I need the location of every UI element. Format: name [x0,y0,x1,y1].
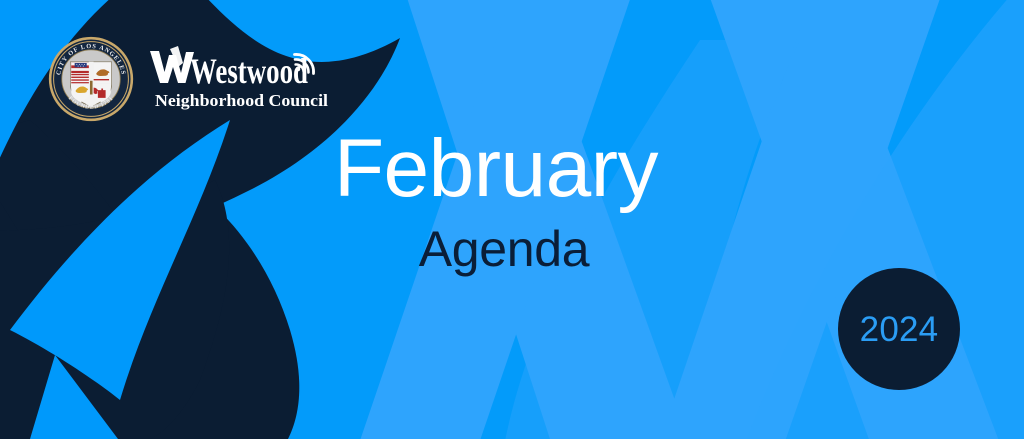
year-badge-label: 2024 [860,312,939,347]
agenda-banner: CITY OF LOS ANGELES FOUNDED 1781 Westwoo… [0,0,1024,439]
year-badge: 2024 [838,268,960,390]
westwood-wordmark-svg: Westwood Neighborhood Council [148,43,338,115]
westwood-wordmark: Westwood Neighborhood Council [148,43,338,115]
brand-logo-lockup: CITY OF LOS ANGELES FOUNDED 1781 Westwoo… [48,36,338,122]
wordmark-primary-text: Westwood [190,51,308,91]
wordmark-secondary-text: Neighborhood Council [155,91,328,110]
stylized-w-mark [150,46,194,83]
city-of-los-angeles-seal-icon: CITY OF LOS ANGELES FOUNDED 1781 [48,36,134,122]
